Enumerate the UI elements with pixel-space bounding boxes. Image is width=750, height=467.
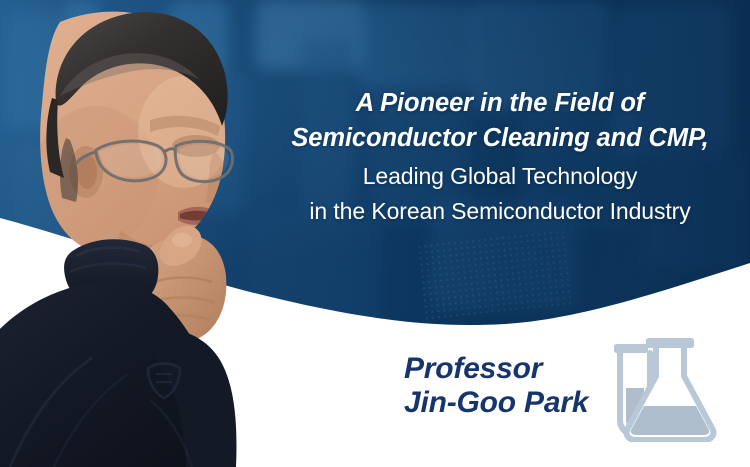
lab-flask-icon — [604, 336, 722, 442]
promotional-banner: A Pioneer in the Field of Semiconductor … — [0, 0, 750, 467]
headline-block: A Pioneer in the Field of Semiconductor … — [272, 86, 728, 229]
headline-line-3: Leading Global Technology — [272, 159, 728, 194]
portrait-photo — [0, 0, 330, 467]
headline-line-4: in the Korean Semiconductor Industry — [272, 194, 728, 229]
professor-title: Professor — [404, 352, 588, 386]
headline-line-2: Semiconductor Cleaning and CMP, — [272, 121, 728, 156]
professor-name: Jin-Goo Park — [404, 386, 588, 420]
professor-name-block: Professor Jin-Goo Park — [404, 352, 588, 420]
headline-line-1: A Pioneer in the Field of — [272, 86, 728, 121]
